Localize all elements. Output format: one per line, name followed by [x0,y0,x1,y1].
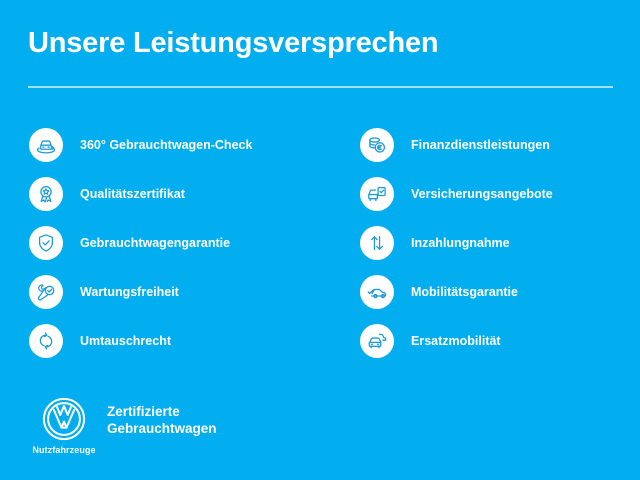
wrench-check-icon [29,275,63,309]
benefit-item: Wartungsfreiheit [29,267,329,316]
benefit-label: Mobilitätsgarantie [411,285,518,299]
benefit-item: Mobilitätsgarantie [360,267,630,316]
award-rosette-icon [29,177,63,211]
benefit-label: Gebrauchtwagengarantie [80,236,230,250]
volkswagen-logo [41,396,87,442]
benefit-item: Finanzdienstleistungen [360,120,630,169]
car-360-check-icon [29,128,63,162]
benefit-item: Versicherungsangebote [360,169,630,218]
volkswagen-brand-block: Nutzfahrzeuge [30,396,98,455]
shield-check-icon [29,226,63,260]
header-divider [28,86,613,88]
exchange-arrows-icon [29,324,63,358]
page-title: Unsere Leistungsversprechen [28,26,613,60]
benefit-item: 360° Gebrauchtwagen-Check [29,120,329,169]
benefits-left-column: 360° Gebrauchtwagen-Check Qualitätszerti… [29,120,329,365]
two-cars-icon [360,324,394,358]
benefit-label: Qualitätszertifikat [80,187,185,201]
benefit-label: Ersatzmobilität [411,334,501,348]
benefit-item: Ersatzmobilität [360,316,630,365]
header: Unsere Leistungsversprechen [28,26,613,60]
car-check-icon [360,275,394,309]
footer-text-line1: Zertifizierte [107,403,217,420]
coins-euro-icon [360,128,394,162]
benefit-label: Versicherungsangebote [411,187,553,201]
footer-text-line2: Gebrauchtwagen [107,420,217,437]
car-clipboard-icon [360,177,394,211]
benefit-label: Inzahlungnahme [411,236,510,250]
benefit-item: Umtauschrecht [29,316,329,365]
benefit-label: Umtauschrecht [80,334,171,348]
footer-text: Zertifizierte Gebrauchtwagen [107,403,217,437]
benefit-item: Gebrauchtwagengarantie [29,218,329,267]
benefit-label: Finanzdienstleistungen [411,138,550,152]
benefits-right-column: Finanzdienstleistungen Versicherungsange… [360,120,630,365]
footer: Nutzfahrzeuge Zertifizierte Gebrauchtwag… [30,396,217,455]
benefit-label: Wartungsfreiheit [80,285,179,299]
logo-subtitle: Nutzfahrzeuge [32,445,95,455]
up-down-arrows-icon [360,226,394,260]
benefit-item: Qualitätszertifikat [29,169,329,218]
benefit-label: 360° Gebrauchtwagen-Check [80,138,252,152]
benefit-item: Inzahlungnahme [360,218,630,267]
slide-root: Unsere Leistungsversprechen 360° Gebrauc… [0,0,640,480]
